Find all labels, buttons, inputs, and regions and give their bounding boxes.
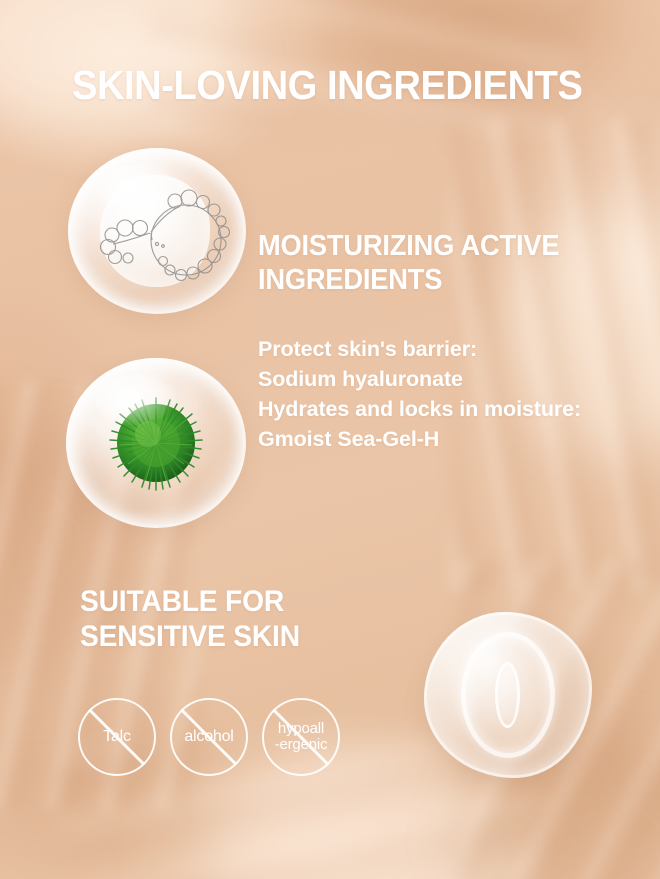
moisturizing-heading: MOISTURIZING ACTIVE INGREDIENTS <box>258 230 587 298</box>
free-from-badge-group: Talc alcohol hypoall -ergenic <box>78 698 340 776</box>
moisturizing-body-text: Protect skin's barrier: Sodium hyalurona… <box>258 334 618 454</box>
badge-label: Talc <box>103 729 131 746</box>
badge-no-alcohol: alcohol <box>170 698 248 776</box>
badge-hypoallergenic: hypoall -ergenic <box>262 698 340 776</box>
gel-drop-rim <box>424 612 592 778</box>
clear-gel-drop-image <box>424 612 592 778</box>
badge-label: alcohol <box>184 729 233 746</box>
algae-sphere-image <box>66 358 246 528</box>
sphere-rim <box>68 148 246 314</box>
page-title: SKIN-LOVING INGREDIENTS <box>72 62 582 109</box>
gel-bubble-sphere-image <box>68 148 246 314</box>
badge-label: hypoall -ergenic <box>275 721 328 753</box>
sphere-rim <box>66 358 246 528</box>
infographic-page: SKIN-LOVING INGREDIENTS <box>0 0 660 879</box>
badge-no-talc: Talc <box>78 698 156 776</box>
sensitive-skin-heading: SUITABLE FOR SENSITIVE SKIN <box>80 585 390 654</box>
